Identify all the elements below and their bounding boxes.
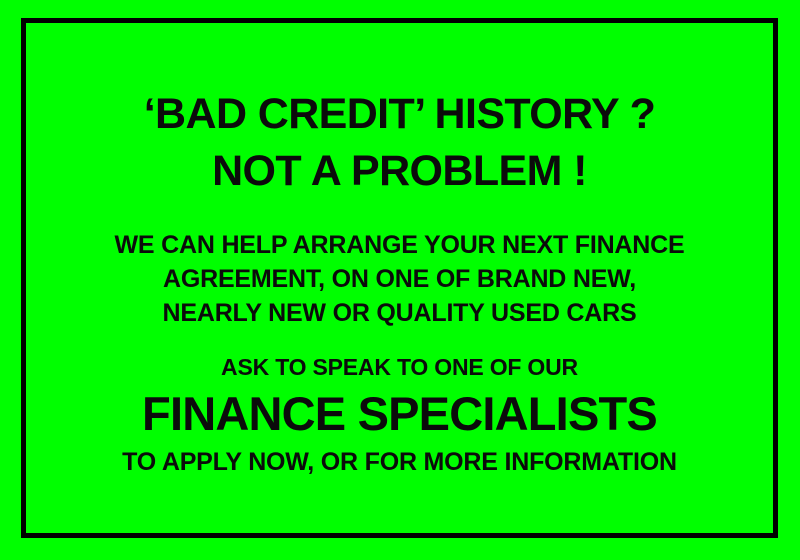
call-to-action-block: ASK TO SPEAK TO ONE OF OUR FINANCE SPECI… xyxy=(26,352,773,479)
headline-block: ‘BAD CREDIT’ HISTORY ? NOT A PROBLEM ! xyxy=(26,86,773,200)
advertisement-poster: ‘BAD CREDIT’ HISTORY ? NOT A PROBLEM ! W… xyxy=(0,0,800,560)
poster-content: ‘BAD CREDIT’ HISTORY ? NOT A PROBLEM ! W… xyxy=(26,23,773,533)
body-line-1: WE CAN HELP ARRANGE YOUR NEXT FINANCE xyxy=(26,228,773,262)
headline-line-2: NOT A PROBLEM ! xyxy=(26,143,773,200)
cta-highlight-text: FINANCE SPECIALISTS xyxy=(26,383,773,445)
cta-lead-in-text: ASK TO SPEAK TO ONE OF OUR xyxy=(26,352,773,383)
body-text-block: WE CAN HELP ARRANGE YOUR NEXT FINANCE AG… xyxy=(26,228,773,330)
body-line-3: NEARLY NEW OR QUALITY USED CARS xyxy=(26,296,773,330)
body-line-2: AGREEMENT, ON ONE OF BRAND NEW, xyxy=(26,262,773,296)
headline-line-1: ‘BAD CREDIT’ HISTORY ? xyxy=(26,86,773,143)
cta-footer-text: TO APPLY NOW, OR FOR MORE INFORMATION xyxy=(26,445,773,479)
